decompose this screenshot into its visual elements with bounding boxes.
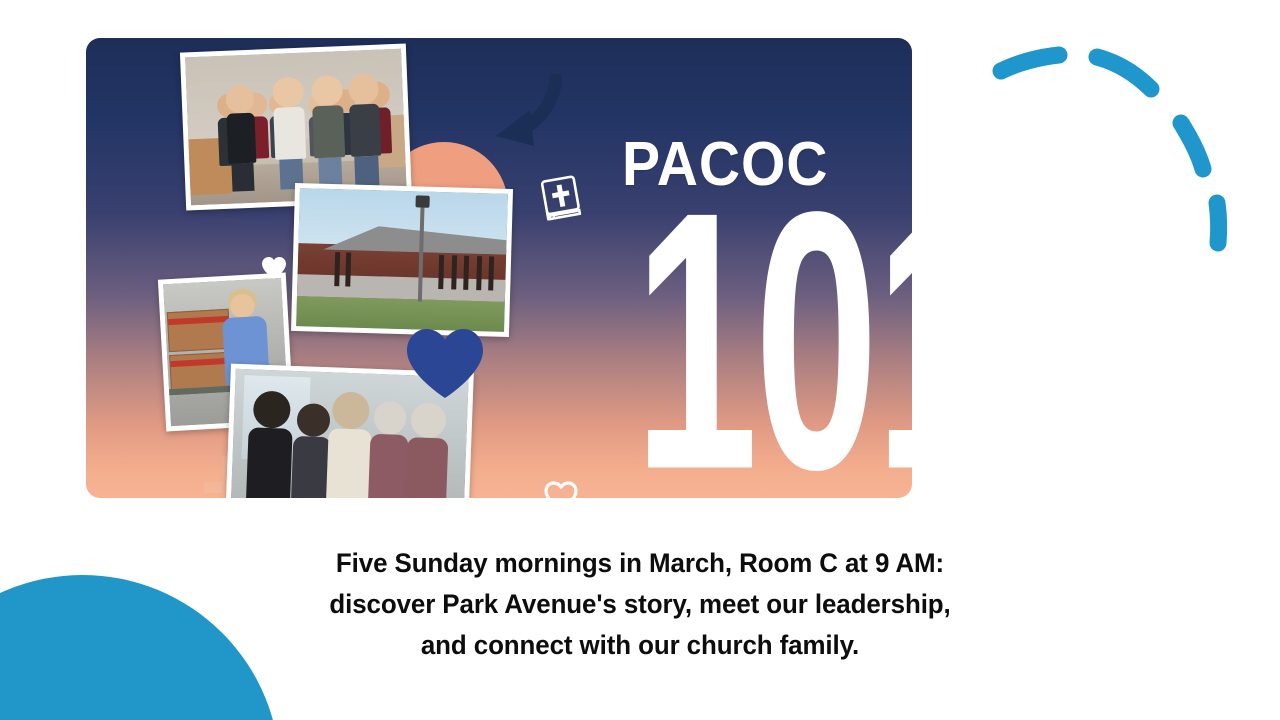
caption-line-3: and connect with our church family.: [304, 625, 976, 666]
heart-outline-white-icon: [544, 481, 578, 498]
caption-line-2: discover Park Avenue's story, meet our l…: [304, 584, 976, 625]
caption-block: Five Sunday mornings in March, Room C at…: [304, 543, 976, 666]
caption-line-1: Five Sunday mornings in March, Room C at…: [304, 543, 976, 584]
heart-solid-white-icon: [261, 256, 287, 280]
pacoc-101-photo-collage: PACOC 101: [86, 38, 912, 498]
corner-circle: [0, 575, 280, 720]
dashed-arc: [985, 25, 1245, 255]
arrow-icon: [490, 74, 562, 150]
heart-solid-blue-icon: [404, 326, 486, 400]
dashed-arc-segment-4: [1217, 203, 1219, 243]
bible-cross-icon: [534, 173, 585, 226]
slide-canvas: PACOC 101 Five Sunday mornings in March,…: [0, 0, 1280, 720]
page-title-number: 101: [634, 188, 912, 494]
dashed-arc-segment-1: [1001, 55, 1059, 71]
photo-church-building: [291, 183, 513, 337]
dashed-arc-segment-2: [1097, 57, 1151, 89]
dashed-arc-segment-3: [1181, 123, 1203, 169]
